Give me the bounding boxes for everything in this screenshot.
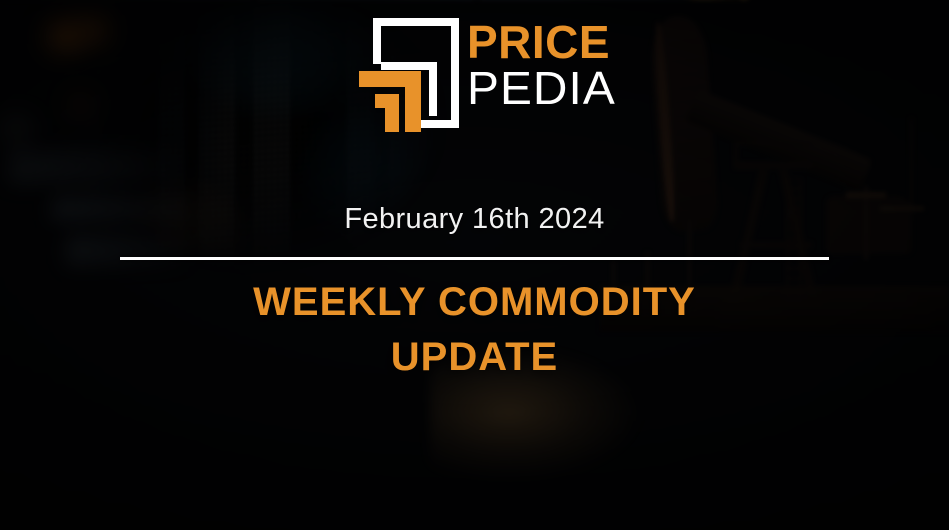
logo-word-price: PRICE bbox=[467, 18, 610, 66]
headline-line-1: WEEKLY COMMODITY bbox=[253, 280, 696, 324]
slide-headline: WEEKLY COMMODITY UPDATE bbox=[0, 275, 949, 385]
headline-line-2: UPDATE bbox=[0, 330, 949, 385]
pricepedia-logo[interactable]: PRICE PEDIA bbox=[355, 14, 610, 132]
title-divider bbox=[120, 257, 829, 260]
pricepedia-bracket-arrow-icon bbox=[355, 14, 467, 132]
weekly-commodity-update-slide: PRICE PEDIA February 16th 2024 WEEKLY CO… bbox=[0, 0, 949, 530]
logo-wordmark: PRICE PEDIA bbox=[467, 18, 610, 112]
slide-date: February 16th 2024 bbox=[0, 203, 949, 236]
slide-content: PRICE PEDIA February 16th 2024 WEEKLY CO… bbox=[0, 0, 949, 530]
logo-word-pedia: PEDIA bbox=[467, 64, 616, 112]
